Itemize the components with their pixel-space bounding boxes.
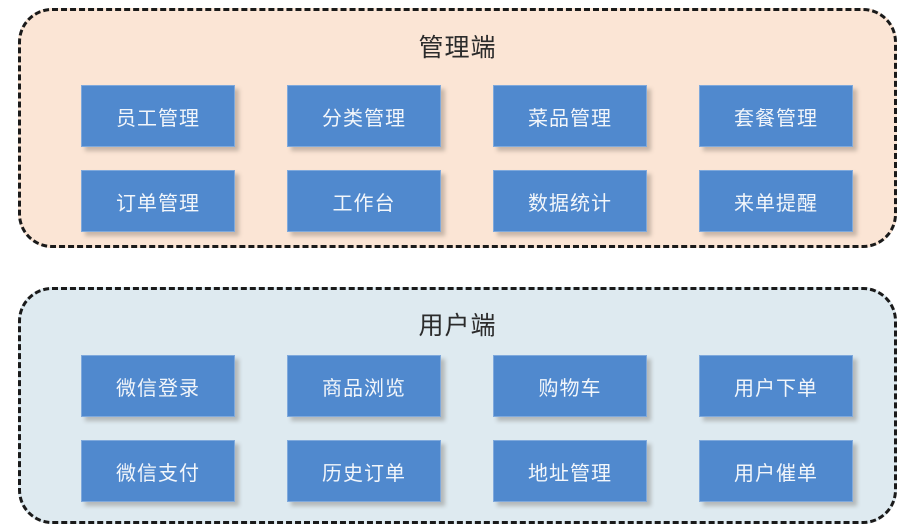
node-wechat-payment[interactable]: 微信支付 xyxy=(81,440,235,502)
node-wechat-login[interactable]: 微信登录 xyxy=(81,355,235,417)
node-shopping-cart[interactable]: 购物车 xyxy=(493,355,647,417)
node-order-management[interactable]: 订单管理 xyxy=(81,170,235,232)
node-product-browsing[interactable]: 商品浏览 xyxy=(287,355,441,417)
node-data-statistics[interactable]: 数据统计 xyxy=(493,170,647,232)
node-category-management[interactable]: 分类管理 xyxy=(287,85,441,147)
panel-admin-node-grid: 员工管理 分类管理 菜品管理 套餐管理 订单管理 工作台 数据统计 来单提醒 xyxy=(81,85,854,232)
panel-user: 用户端 微信登录 商品浏览 购物车 用户下单 微信支付 历史订单 地址管理 用户… xyxy=(18,287,897,524)
node-new-order-reminder[interactable]: 来单提醒 xyxy=(699,170,853,232)
node-order-history[interactable]: 历史订单 xyxy=(287,440,441,502)
node-combo-management[interactable]: 套餐管理 xyxy=(699,85,853,147)
node-address-management[interactable]: 地址管理 xyxy=(493,440,647,502)
architecture-diagram: 管理端 员工管理 分类管理 菜品管理 套餐管理 订单管理 工作台 数据统计 来单… xyxy=(0,0,915,531)
panel-user-title: 用户端 xyxy=(21,314,894,339)
node-dish-management[interactable]: 菜品管理 xyxy=(493,85,647,147)
node-user-order-reminder[interactable]: 用户催单 xyxy=(699,440,853,502)
node-employee-management[interactable]: 员工管理 xyxy=(81,85,235,147)
node-workbench[interactable]: 工作台 xyxy=(287,170,441,232)
panel-admin: 管理端 员工管理 分类管理 菜品管理 套餐管理 订单管理 工作台 数据统计 来单… xyxy=(18,8,897,248)
panel-admin-title: 管理端 xyxy=(21,36,894,61)
panel-user-node-grid: 微信登录 商品浏览 购物车 用户下单 微信支付 历史订单 地址管理 用户催单 xyxy=(81,355,854,502)
node-user-place-order[interactable]: 用户下单 xyxy=(699,355,853,417)
